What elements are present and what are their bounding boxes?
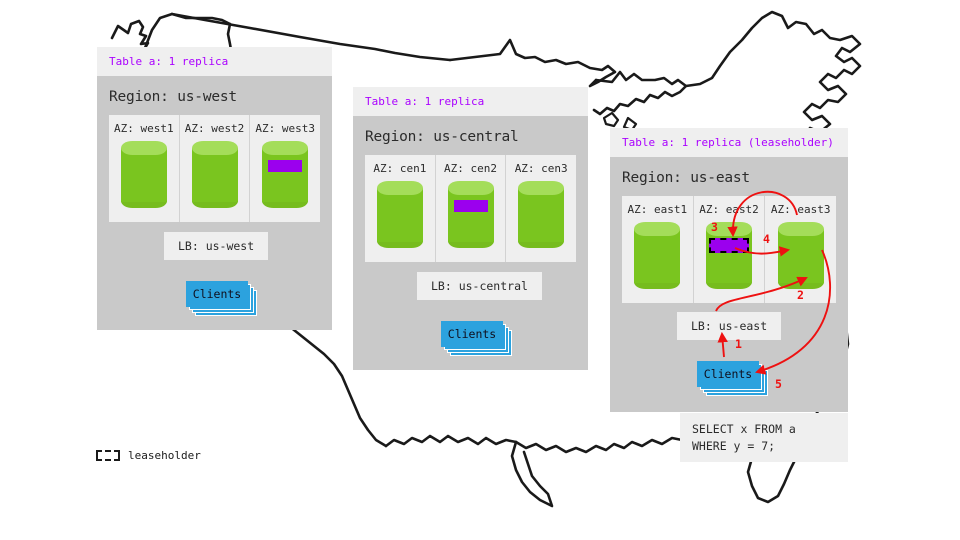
az-label-east3: AZ: east3 bbox=[765, 203, 836, 216]
clients-label: Clients bbox=[697, 361, 759, 387]
step-number-1: 1 bbox=[735, 337, 742, 351]
cylinder-body-icon bbox=[634, 229, 680, 283]
az-east3[interactable]: AZ: east3 bbox=[765, 196, 836, 303]
az-row-us-east: AZ: east1 AZ: east2 AZ: east bbox=[622, 196, 836, 303]
az-label-cen3: AZ: cen3 bbox=[506, 162, 576, 175]
legend: leaseholder bbox=[96, 449, 201, 462]
node-cylinder-east3[interactable] bbox=[778, 222, 824, 289]
az-label-west1: AZ: west1 bbox=[109, 122, 179, 135]
node-cylinder-west3[interactable] bbox=[262, 141, 308, 208]
az-west2[interactable]: AZ: west2 bbox=[180, 115, 251, 222]
region-caption-us-central: Table a: 1 replica bbox=[353, 87, 588, 116]
load-balancer-us-east[interactable]: LB: us-east bbox=[677, 312, 781, 340]
clients-label: Clients bbox=[441, 321, 503, 347]
cylinder-body-icon bbox=[448, 188, 494, 242]
az-label-west2: AZ: west2 bbox=[180, 122, 250, 135]
node-cylinder-cen1[interactable] bbox=[377, 181, 423, 248]
az-west3[interactable]: AZ: west3 bbox=[250, 115, 320, 222]
cylinder-body-icon bbox=[262, 148, 308, 202]
sql-query-box: SELECT x FROM a WHERE y = 7; bbox=[680, 413, 848, 462]
diagram-canvas: Table a: 1 replica Region: us-west AZ: w… bbox=[0, 0, 960, 540]
az-label-east1: AZ: east1 bbox=[622, 203, 693, 216]
az-label-cen2: AZ: cen2 bbox=[436, 162, 506, 175]
region-caption-us-west: Table a: 1 replica bbox=[97, 47, 332, 76]
cylinder-body-icon bbox=[706, 229, 752, 283]
clients-label: Clients bbox=[186, 281, 248, 307]
cylinder-top-icon bbox=[778, 222, 824, 236]
cylinder-body-icon bbox=[518, 188, 564, 242]
cylinder-top-icon bbox=[634, 222, 680, 236]
node-cylinder-west2[interactable] bbox=[192, 141, 238, 208]
node-cylinder-cen3[interactable] bbox=[518, 181, 564, 248]
region-caption-us-east: Table a: 1 replica (leaseholder) bbox=[610, 128, 848, 157]
dashed-rectangle-icon bbox=[96, 450, 120, 461]
az-east2[interactable]: AZ: east2 bbox=[694, 196, 766, 303]
cylinder-top-icon bbox=[262, 141, 308, 155]
az-west1[interactable]: AZ: west1 bbox=[109, 115, 180, 222]
az-label-cen1: AZ: cen1 bbox=[365, 162, 435, 175]
step-number-3: 3 bbox=[711, 220, 718, 234]
az-row-us-west: AZ: west1 AZ: west2 AZ: west3 bbox=[109, 115, 320, 222]
step-number-5: 5 bbox=[775, 377, 782, 391]
replica-block-east2-leaseholder bbox=[709, 238, 749, 253]
cylinder-body-icon bbox=[377, 188, 423, 242]
cylinder-top-icon bbox=[518, 181, 564, 195]
node-cylinder-east1[interactable] bbox=[634, 222, 680, 289]
node-cylinder-west1[interactable] bbox=[121, 141, 167, 208]
replica-block-west3 bbox=[268, 160, 302, 172]
load-balancer-us-west[interactable]: LB: us-west bbox=[164, 232, 268, 260]
clients-us-central[interactable]: Clients bbox=[441, 321, 503, 347]
az-cen3[interactable]: AZ: cen3 bbox=[506, 155, 576, 262]
cylinder-body-icon bbox=[778, 229, 824, 283]
cylinder-top-icon bbox=[448, 181, 494, 195]
az-row-us-central: AZ: cen1 AZ: cen2 AZ: cen3 bbox=[365, 155, 576, 262]
region-title-us-east: Region: us-east bbox=[610, 157, 848, 196]
az-label-east2: AZ: east2 bbox=[694, 203, 765, 216]
cylinder-body-icon bbox=[121, 148, 167, 202]
cylinder-top-icon bbox=[121, 141, 167, 155]
az-cen2[interactable]: AZ: cen2 bbox=[436, 155, 507, 262]
az-label-west3: AZ: west3 bbox=[250, 122, 320, 135]
clients-us-west[interactable]: Clients bbox=[186, 281, 248, 307]
region-title-us-central: Region: us-central bbox=[353, 116, 588, 155]
az-cen1[interactable]: AZ: cen1 bbox=[365, 155, 436, 262]
step-number-2: 2 bbox=[797, 288, 804, 302]
replica-block-cen2 bbox=[454, 200, 488, 212]
node-cylinder-cen2[interactable] bbox=[448, 181, 494, 248]
region-title-us-west: Region: us-west bbox=[97, 76, 332, 115]
load-balancer-us-central[interactable]: LB: us-central bbox=[417, 272, 542, 300]
step-number-4: 4 bbox=[763, 232, 770, 246]
cylinder-top-icon bbox=[377, 181, 423, 195]
legend-label: leaseholder bbox=[128, 449, 201, 462]
az-east1[interactable]: AZ: east1 bbox=[622, 196, 694, 303]
cylinder-top-icon bbox=[192, 141, 238, 155]
cylinder-body-icon bbox=[192, 148, 238, 202]
clients-us-east[interactable]: Clients bbox=[697, 361, 759, 387]
